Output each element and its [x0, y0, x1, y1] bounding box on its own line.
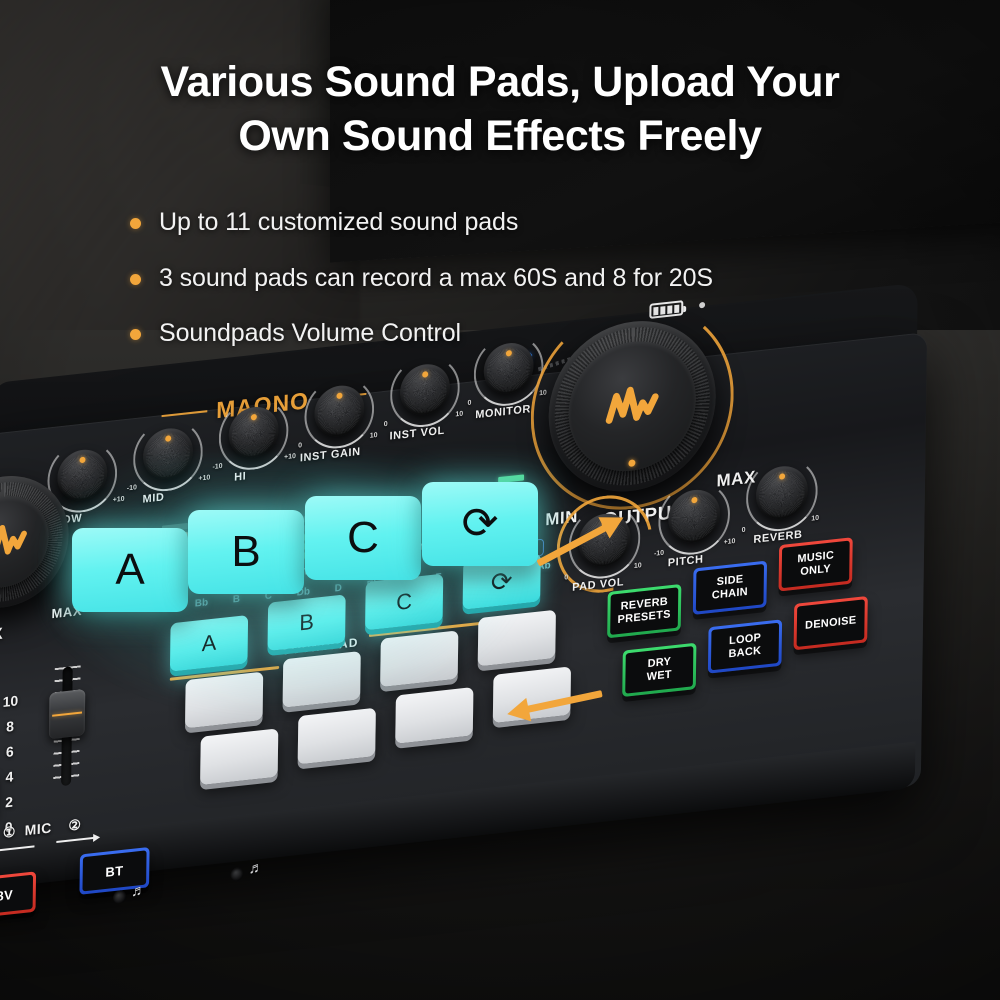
list-item: 3 sound pads can record a max 60S and 8 …: [130, 262, 930, 295]
soundpad-blank[interactable]: [395, 687, 473, 744]
soundpad-loop[interactable]: ⟳: [463, 553, 541, 610]
headphone-jack-1[interactable]: [113, 890, 126, 905]
knob-monitor-max: 10: [539, 389, 547, 397]
vu-meter-output: [498, 474, 524, 519]
bullet-text: Up to 11 customized sound pads: [159, 206, 518, 239]
fader-scale-tick: 10: [3, 692, 19, 710]
soundpad-c[interactable]: C: [365, 574, 443, 631]
knob-low-max: +10: [113, 496, 125, 504]
button-music-only-line2: ONLY: [800, 563, 831, 579]
list-item: Up to 11 customized sound pads: [130, 206, 930, 239]
knob-inst-gain-max: 10: [370, 432, 378, 440]
brand-wave-logo: [604, 380, 660, 432]
knob-inst-gain-min: 0: [298, 442, 302, 449]
note-label: C: [265, 590, 272, 602]
button-48v[interactable]: 48V: [0, 871, 36, 919]
bullet-dot-icon: [130, 218, 141, 229]
page-title: Various Sound Pads, Upload Your Own Soun…: [0, 55, 1000, 163]
fader-scale-tick: 8: [2, 717, 18, 735]
loop-icon: ⟳: [463, 553, 541, 610]
knob-hi-max: +10: [284, 453, 296, 461]
soundpad-blank[interactable]: [298, 708, 376, 765]
headphone-icon: ♬: [248, 859, 263, 878]
list-item: Soundpads Volume Control: [130, 317, 930, 350]
vu-meter-monitor: [430, 488, 456, 533]
headphone-jack-2[interactable]: [231, 867, 244, 882]
vu-meter-inst: [291, 515, 317, 560]
vu-label-inst: INST: [286, 566, 309, 579]
vu-meter-soundpad: [356, 502, 382, 547]
button-bt-label: BT: [105, 862, 123, 879]
bullet-text: Soundpads Volume Control: [159, 317, 461, 350]
soundpad-a-label: A: [170, 615, 248, 672]
soundpad-c-label: C: [365, 574, 443, 631]
output-dial-max-label: MAX: [716, 467, 756, 491]
button-48v-label: 48V: [0, 886, 13, 904]
product-image-stage: Various Sound Pads, Upload Your Own Soun…: [0, 0, 1000, 1000]
button-dry-wet-line2: WET: [647, 669, 672, 684]
knob-mid-max: +10: [198, 474, 210, 482]
fader-handle-mic2[interactable]: [49, 689, 85, 739]
note-label: D: [335, 583, 342, 595]
bullet-dot-icon: [130, 274, 141, 285]
fader-scale-tick: 2: [1, 793, 17, 811]
soundpad-blank[interactable]: [185, 672, 263, 729]
audio-mixer-device: MAONO ᛏ LOW -10 +10 MID -10 +10 HI -10 +…: [0, 267, 968, 981]
knob-mid-label: MID: [142, 491, 164, 505]
vu-label-soundpad: SOUNDPAD: [344, 550, 399, 566]
knob-reverb-max: 10: [811, 515, 819, 523]
soundpad-a[interactable]: A: [170, 615, 248, 672]
soundpad-blank[interactable]: [283, 651, 361, 708]
note-label: Bb: [195, 597, 208, 610]
button-denoise-label: DENOISE: [805, 614, 857, 632]
headphone-icon: ♬: [131, 882, 146, 901]
vu-meter-aux: [161, 523, 188, 586]
knob-monitor-min: 0: [467, 400, 471, 407]
fader-scale: 10 8 6 4 2 0: [1, 692, 18, 836]
brand-wave-logo: [0, 519, 28, 564]
mic-selector-label: MIC: [25, 819, 52, 838]
mic-selector-2-icon: ②: [68, 816, 81, 835]
vu-label-output: OUTPUT: [491, 524, 532, 538]
vu-label-monitor: MONITOR: [420, 537, 466, 552]
soundpad-blank[interactable]: [200, 728, 278, 785]
headline-line-1: Various Sound Pads, Upload Your: [161, 58, 840, 106]
soundpad-blank[interactable]: [493, 666, 571, 723]
knob-hi-label: HI: [234, 470, 246, 483]
knob-pad-vol-min: 0: [564, 574, 568, 581]
button-loop-back-line2: BACK: [728, 645, 761, 661]
soundpad-blank[interactable]: [380, 630, 458, 687]
knob-hi-min: -10: [212, 463, 222, 471]
soundpad-b[interactable]: B: [267, 594, 345, 651]
button-side-chain-line2: CHAIN: [712, 586, 748, 603]
note-label: A: [163, 601, 170, 613]
soundpad-blank[interactable]: [478, 610, 556, 667]
button-dry-wet[interactable]: DRY WET: [622, 643, 696, 697]
knob-pitch-min: -10: [654, 550, 664, 558]
knob-pad-vol-max: 10: [634, 562, 642, 570]
feature-bullet-list: Up to 11 customized sound pads 3 sound p…: [130, 206, 930, 373]
bullet-dot-icon: [130, 329, 141, 340]
bullet-text: 3 sound pads can record a max 60S and 8 …: [159, 262, 713, 295]
vu-label-mic: MIC: [223, 580, 241, 592]
button-side-chain[interactable]: SIDE CHAIN: [693, 561, 767, 615]
fader-scale-tick: 4: [2, 768, 18, 786]
button-music-only[interactable]: MUSIC ONLY: [779, 537, 853, 591]
soundpad-b-label: B: [267, 594, 345, 651]
mic-selector-1-icon: ①: [3, 823, 16, 842]
knob-mid-min: -10: [127, 484, 137, 492]
knob-inst-vol-min: 0: [384, 421, 388, 428]
button-loop-back[interactable]: LOOP BACK: [708, 619, 782, 673]
vu-meter-mic: [225, 528, 251, 573]
knob-inst-vol-max: 10: [455, 411, 463, 419]
button-reverb-presets[interactable]: REVERB PRESETS: [607, 584, 681, 638]
headline-line-2: Own Sound Effects Freely: [0, 109, 1000, 163]
knob-reverb-min: 0: [742, 527, 746, 534]
fader-scale-tick: 6: [2, 743, 18, 761]
knob-pitch-max: +10: [724, 538, 736, 546]
note-label: B: [233, 594, 240, 606]
note-label: Db: [297, 586, 310, 599]
button-denoise[interactable]: DENOISE: [794, 596, 868, 650]
